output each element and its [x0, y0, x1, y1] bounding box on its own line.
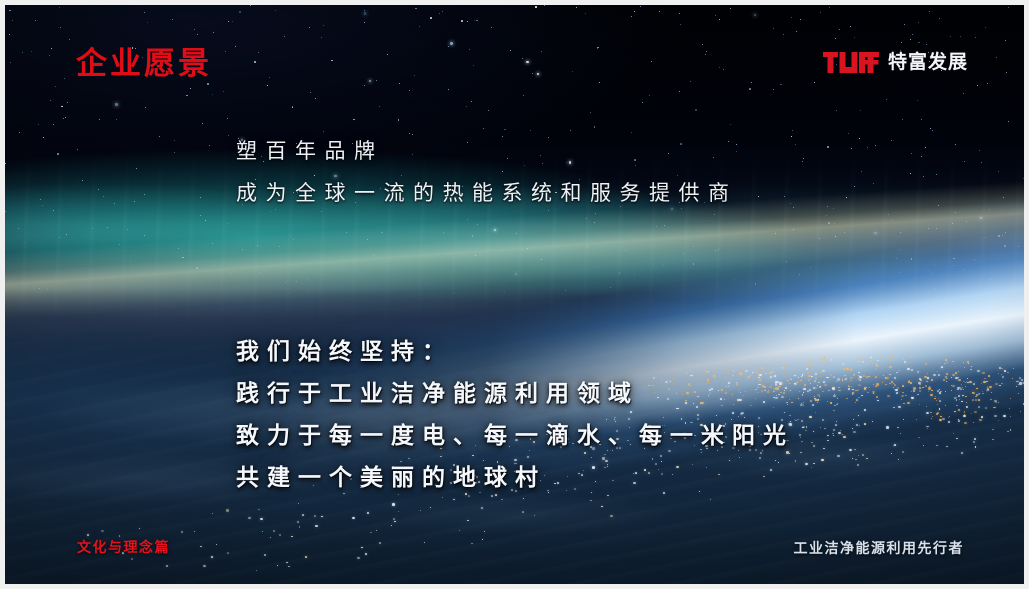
page-title: 企业愿景	[76, 49, 212, 80]
belief-line: 践行于工业洁净能源利用领域	[236, 373, 794, 415]
tuff-logo-icon	[823, 52, 879, 73]
slide-content: 企业愿景 特富发展 塑百年品牌 成为全球一流的热能	[5, 5, 1024, 584]
vision-line: 塑百年品牌	[236, 130, 738, 172]
footer-section-label: 文化与理念篇	[77, 541, 170, 555]
belief-line: 我们始终坚持：	[236, 331, 794, 373]
vision-text-block: 塑百年品牌 成为全球一流的热能系统和服务提供商	[236, 130, 738, 214]
vision-line: 成为全球一流的热能系统和服务提供商	[236, 172, 738, 214]
belief-line: 致力于每一度电、每一滴水、每一米阳光	[236, 415, 794, 457]
belief-text-block: 我们始终坚持： 践行于工业洁净能源利用领域 致力于每一度电、每一滴水、每一米阳光…	[236, 331, 794, 499]
logo-company-name: 特富发展	[888, 53, 968, 72]
slide-canvas: 企业愿景 特富发展 塑百年品牌 成为全球一流的热能	[5, 5, 1024, 584]
belief-line: 共建一个美丽的地球村	[236, 457, 794, 499]
slide-frame: 企业愿景 特富发展 塑百年品牌 成为全球一流的热能	[0, 0, 1029, 589]
brand-logo: 特富发展	[823, 52, 968, 73]
footer-slogan: 工业洁净能源利用先行者	[794, 542, 965, 556]
